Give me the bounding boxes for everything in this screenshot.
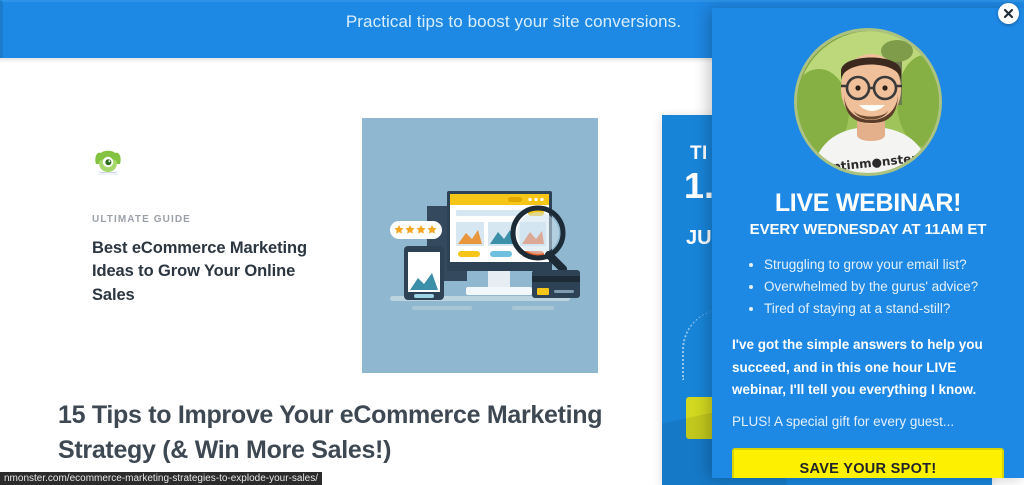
save-your-spot-button[interactable]: SAVE YOUR SPOT! — [732, 448, 1004, 478]
top-banner-text: Practical tips to boost your site conver… — [346, 12, 681, 32]
page-title: 15 Tips to Improve Your eCommerce Market… — [58, 398, 658, 467]
presenter-avatar-photo: optinm●nster — [794, 28, 942, 176]
article-title[interactable]: Best eCommerce Marketing Ideas to Grow Y… — [92, 237, 342, 307]
ecommerce-website-illustration — [362, 118, 598, 373]
popup-bullet-list: Struggling to grow your email list? Over… — [748, 254, 1004, 320]
optinmonster-monster-icon — [92, 148, 124, 178]
popup-subheading: EVERY WEDNESDAY AT 11AM ET — [732, 221, 1004, 238]
status-bar-url: nmonster.com/ecommerce-marketing-strateg… — [0, 472, 322, 485]
popup-plus-note: PLUS! A special gift for every guest... — [732, 413, 1004, 432]
list-item: Overwhelmed by the gurus' advice? — [748, 276, 1004, 298]
article-teaser-card[interactable]: ULTIMATE GUIDE Best eCommerce Marketing … — [92, 148, 342, 307]
background-promo-line1: TI — [690, 143, 708, 165]
list-item: Tired of staying at a stand-still? — [748, 298, 1004, 320]
background-promo-line3: JU — [686, 227, 712, 250]
webinar-popup-modal: optinm●nster LIVE WEBINAR! EVERY WEDNESD… — [712, 8, 1024, 478]
background-promo-line2: 1. — [684, 165, 714, 207]
list-item: Struggling to grow your email list? — [748, 254, 1004, 276]
close-icon[interactable] — [998, 3, 1019, 24]
popup-pitch-text: I've got the simple answers to help you … — [732, 334, 1004, 402]
popup-heading: LIVE WEBINAR! — [732, 190, 1004, 216]
article-kicker-label: ULTIMATE GUIDE — [92, 214, 342, 225]
browser-viewport: Practical tips to boost your site conver… — [0, 0, 1024, 485]
